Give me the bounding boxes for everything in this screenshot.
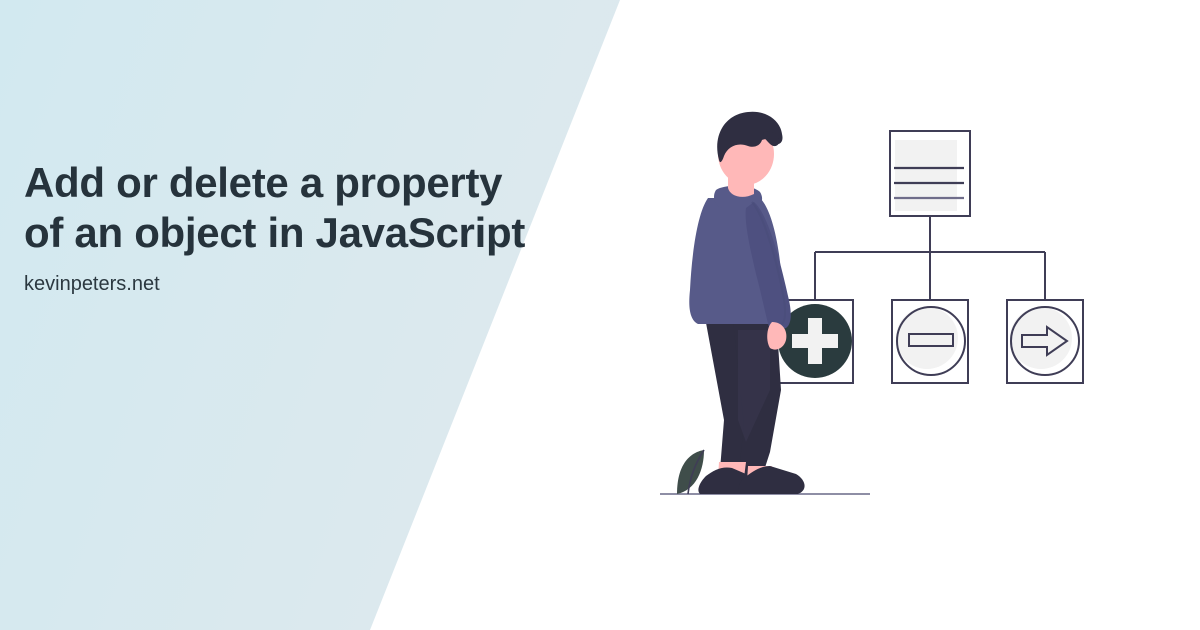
illustration xyxy=(620,90,1140,530)
document-node-fill xyxy=(895,140,957,211)
minus-circle-icon xyxy=(909,334,953,346)
share-card-canvas: Add or delete a property of an object in… xyxy=(0,0,1200,630)
document-node[interactable] xyxy=(890,131,970,216)
page-title: Add or delete a property of an object in… xyxy=(24,158,544,258)
delete-node[interactable] xyxy=(892,300,968,383)
standing-person xyxy=(689,112,804,494)
move-node[interactable] xyxy=(1007,300,1083,383)
site-name: kevinpeters.net xyxy=(24,272,544,296)
tree-connectors xyxy=(815,216,1045,300)
text-block: Add or delete a property of an object in… xyxy=(24,158,544,296)
